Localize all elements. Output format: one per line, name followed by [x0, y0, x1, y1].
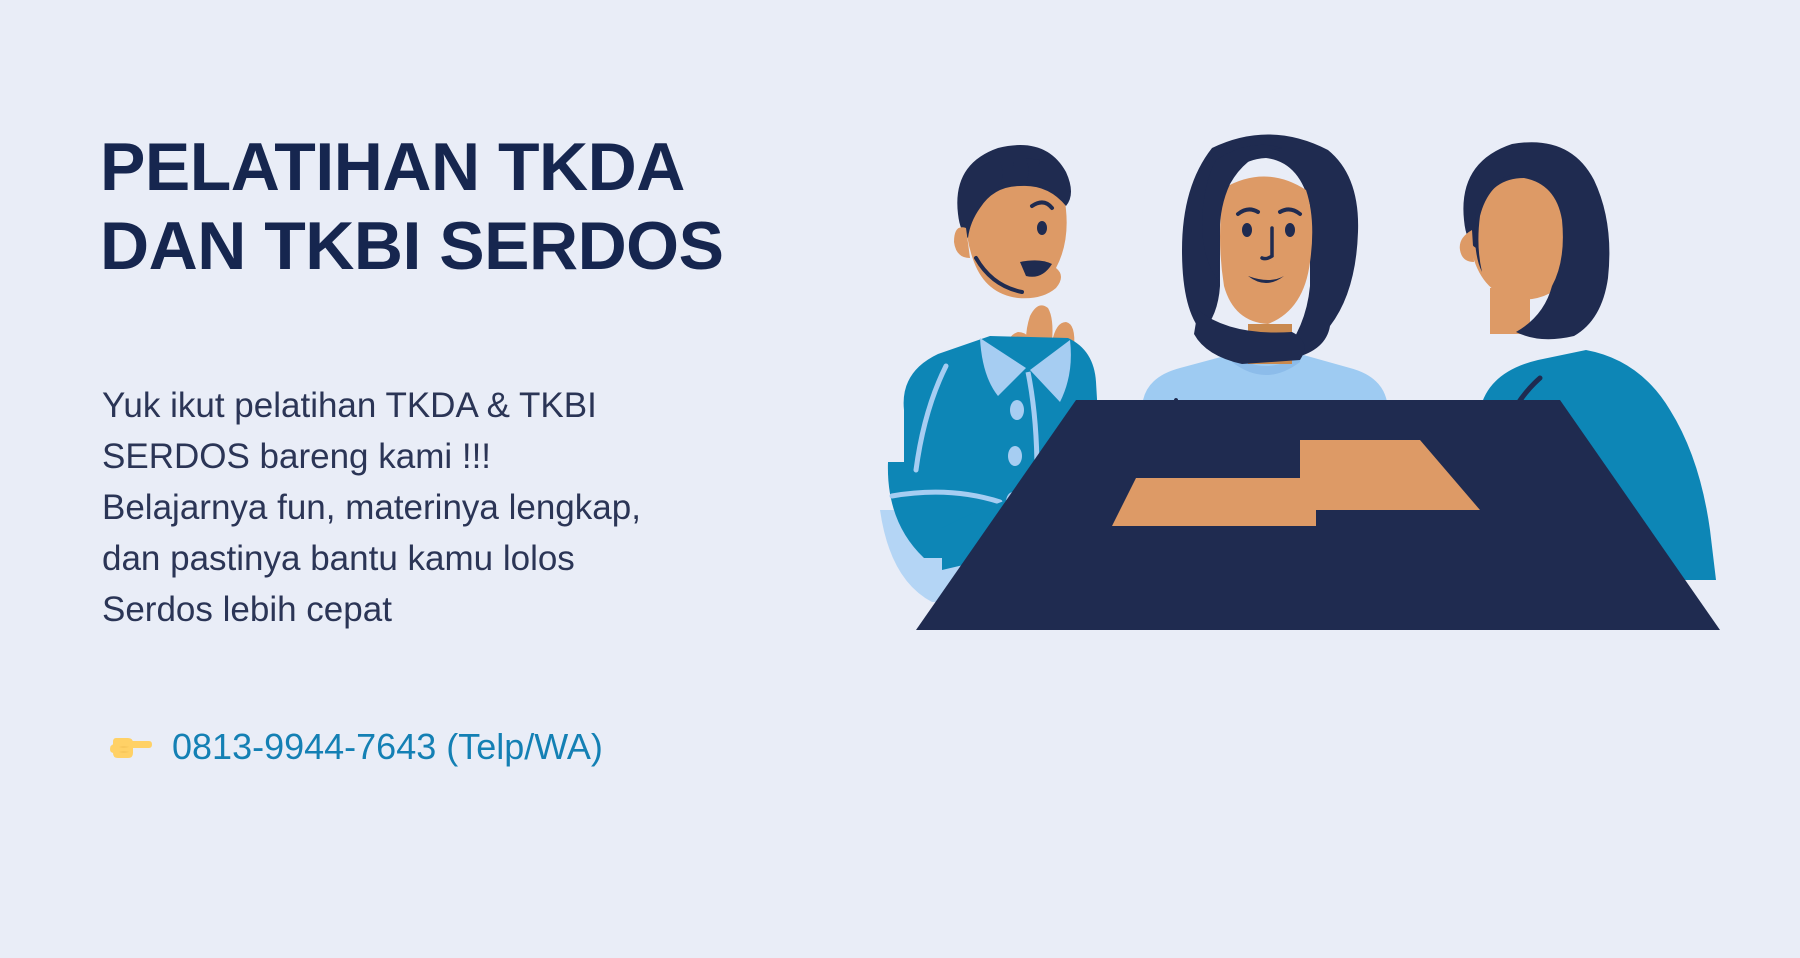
illustration-three-people-at-table [880, 110, 1720, 730]
subcopy-text: Yuk ikut pelatihan TKDA & TKBI SERDOS ba… [102, 380, 862, 635]
contact-row[interactable]: 0813-9944-7643 (Telp/WA) [108, 724, 603, 770]
page-title: PELATIHAN TKDA DAN TKBI SERDOS [100, 128, 900, 286]
pointing-right-hand-icon [108, 724, 154, 770]
promo-banner: PELATIHAN TKDA DAN TKBI SERDOS Yuk ikut … [0, 0, 1800, 958]
phone-number[interactable]: 0813-9944-7643 (Telp/WA) [172, 729, 603, 765]
text-column: PELATIHAN TKDA DAN TKBI SERDOS Yuk ikut … [100, 128, 900, 286]
